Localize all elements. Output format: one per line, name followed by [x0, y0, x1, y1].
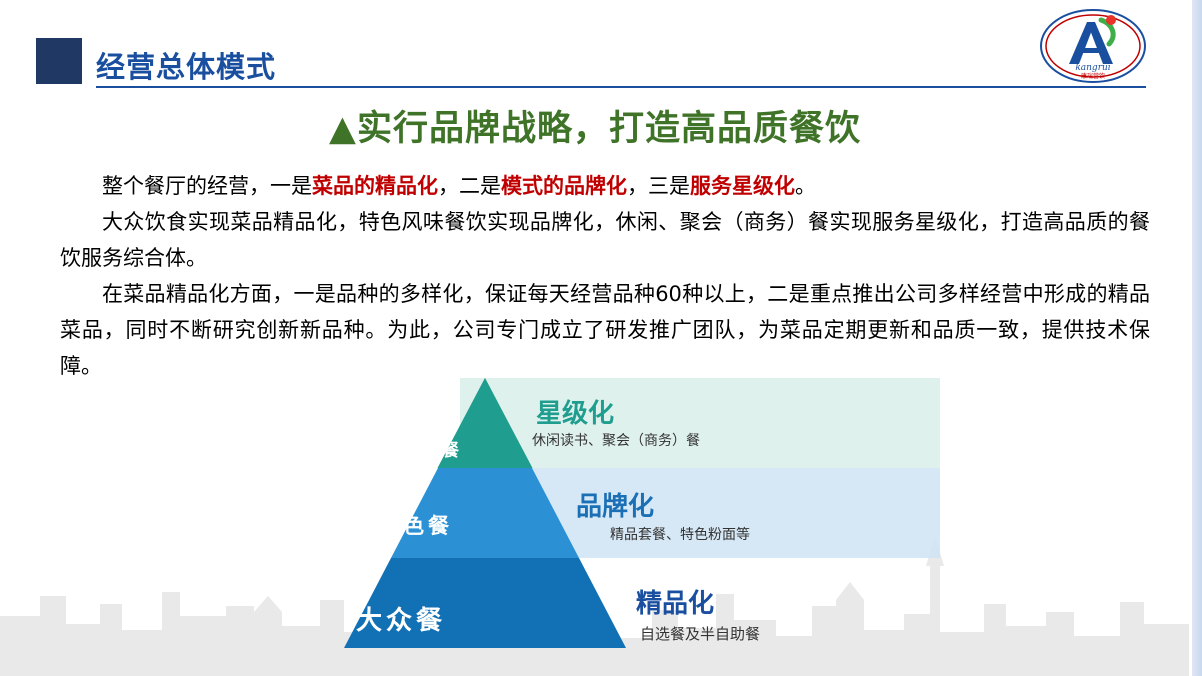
- header-divider: [96, 86, 1146, 88]
- pyramid-tier-3-title: 精品化: [636, 583, 714, 620]
- right-edge-gradient-band: [1192, 0, 1202, 676]
- headline-text: 实行品牌战略，打造高品质餐饮: [357, 109, 861, 149]
- kangrui-logo: kangrui 康瑞营饮: [1039, 8, 1147, 84]
- pyramid-tier-2-title: 品牌化: [576, 486, 654, 523]
- svg-text:康瑞营饮: 康瑞营饮: [1081, 72, 1105, 80]
- pyramid-tier-2-inner-label: 特色餐: [378, 510, 453, 540]
- headline: ▲实行品牌战略，打造高品质餐饮: [0, 100, 1190, 151]
- pyramid-tier-2-subtitle: 精品套餐、特色粉面等: [610, 524, 750, 544]
- page-title: 经营总体模式: [96, 44, 276, 86]
- pyramid-tier-1-inner-label: 精品餐: [400, 436, 463, 461]
- body-text-block: 整个餐厅的经营，一是菜品的精品化，二是模式的品牌化，三是服务星级化。 大众饮食实…: [60, 168, 1150, 384]
- p1-part-d: 。: [795, 174, 816, 198]
- pyramid-tier-1-subtitle: 休闲读书、聚会（商务）餐: [532, 430, 700, 450]
- headline-triangle-marker: ▲: [329, 109, 357, 149]
- paragraph-2: 大众饮食实现菜品精品化，特色风味餐饮实现品牌化，休闲、聚会（商务）餐实现服务星级…: [60, 204, 1150, 276]
- p1-highlight-3: 服务星级化: [690, 174, 795, 198]
- svg-text:kangrui: kangrui: [1075, 63, 1110, 73]
- header-square-marker: [36, 38, 82, 84]
- pyramid-diagram: 精品餐 特色餐 大众餐 星级化 休闲读书、聚会（商务）餐 品牌化 精品套餐、特色…: [300, 378, 940, 648]
- pyramid-tier-3-inner-label: 大众餐: [356, 600, 446, 637]
- paragraph-3: 在菜品精品化方面，一是品种的多样化，保证每天经营品种60种以上，二是重点推出公司…: [60, 276, 1150, 384]
- p1-part-c: ，三是: [627, 174, 690, 198]
- p1-highlight-1: 菜品的精品化: [312, 174, 438, 198]
- pyramid-tier-1-title: 星级化: [536, 393, 614, 430]
- pyramid-tier-3-subtitle: 自选餐及半自助餐: [640, 623, 760, 644]
- p1-part-b: ，二是: [438, 174, 501, 198]
- p1-part-a: 整个餐厅的经营，一是: [102, 174, 312, 198]
- p1-highlight-2: 模式的品牌化: [501, 174, 627, 198]
- paragraph-1: 整个餐厅的经营，一是菜品的精品化，二是模式的品牌化，三是服务星级化。: [60, 168, 1150, 204]
